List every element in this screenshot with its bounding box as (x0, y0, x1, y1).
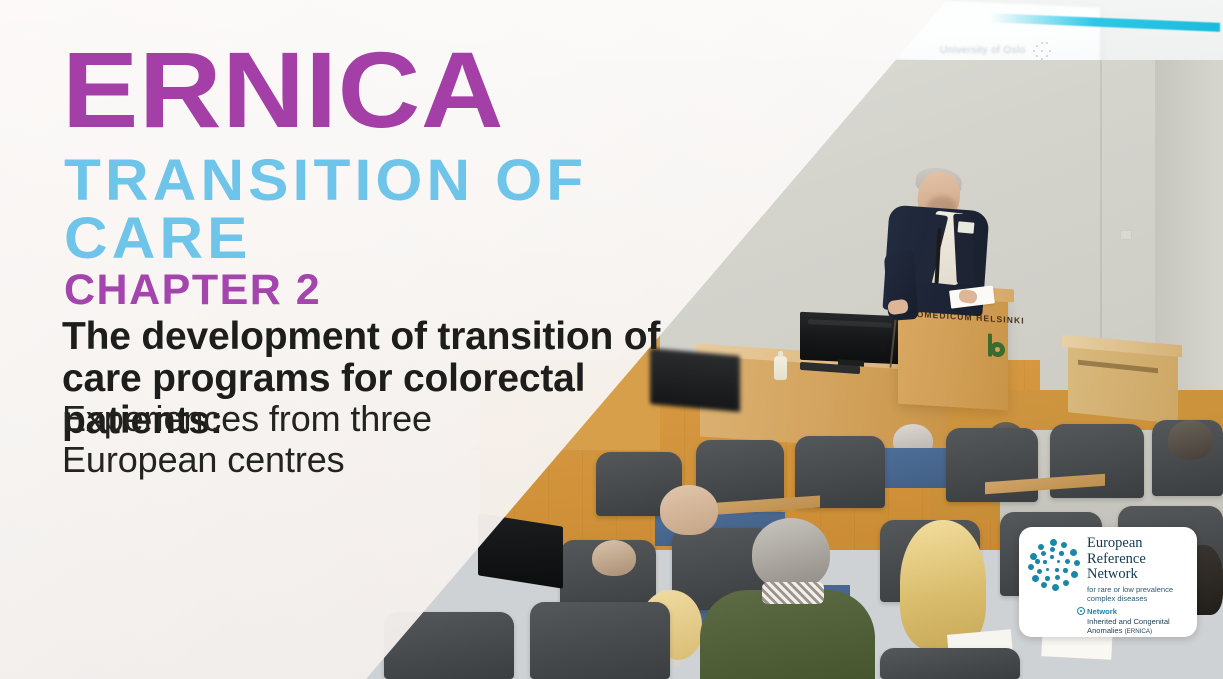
audience-head-left-edge (592, 540, 636, 576)
projection-screen-text: University of Oslo (940, 45, 1026, 56)
water-bottle (774, 356, 787, 380)
ern-logo-line-1: European (1087, 536, 1146, 552)
ern-tagline-line-2: complex diseases (1087, 594, 1173, 603)
ern-logo-tagline: for rare or low prevalence complex disea… (1087, 585, 1173, 604)
audience-head-bald-man (660, 485, 718, 535)
audience-collar-checked (762, 582, 824, 604)
chapter-label: CHAPTER 2 (64, 269, 321, 312)
ern-network-name-line-1: Inherited and Congenital (1087, 617, 1170, 626)
ern-logo-line-2: Reference (1087, 552, 1146, 568)
chair (880, 648, 1020, 679)
ern-network-abbrev: (ERNICA) (1125, 628, 1153, 635)
ern-network-marker-icon (1077, 607, 1085, 615)
ern-network-name-line-2: Anomalies (ERNICA) (1087, 626, 1170, 636)
chair (530, 602, 670, 679)
presenter-monitor (800, 312, 900, 364)
ern-swirl-icon (1028, 539, 1080, 591)
ern-logo-line-3: Network (1087, 567, 1146, 583)
ern-tagline-line-1: for rare or low prevalence (1087, 585, 1173, 594)
ern-logo-badge: European Reference Network for rare or l… (1019, 527, 1197, 637)
talk-subtitle-line-2: European centres (62, 439, 582, 480)
talk-subtitle-line-1: Experiences from three (62, 398, 582, 439)
ern-network-label: Network (1087, 607, 1117, 616)
video-title-card: University of Oslo UiO University of Osl… (0, 0, 1223, 679)
ern-network-name: Inherited and Congenital Anomalies (ERNI… (1087, 617, 1170, 636)
biomedicum-b-logo-icon (986, 333, 1008, 358)
brand-title: ERNICA (62, 36, 504, 144)
ern-logo-title: European Reference Network (1087, 536, 1146, 583)
audience-head-right-rear (1168, 420, 1213, 460)
speaker-name-badge (958, 221, 975, 233)
audience-head-blonde-woman-center (900, 520, 986, 650)
wall-outlet (1120, 230, 1132, 240)
audience-head-grey-man-center (752, 518, 830, 590)
brand-subtitle: TRANSITION OF CARE (64, 152, 788, 268)
talk-subtitle: Experiences from three European centres (62, 398, 582, 480)
ern-network-name-word: Anomalies (1087, 626, 1122, 635)
